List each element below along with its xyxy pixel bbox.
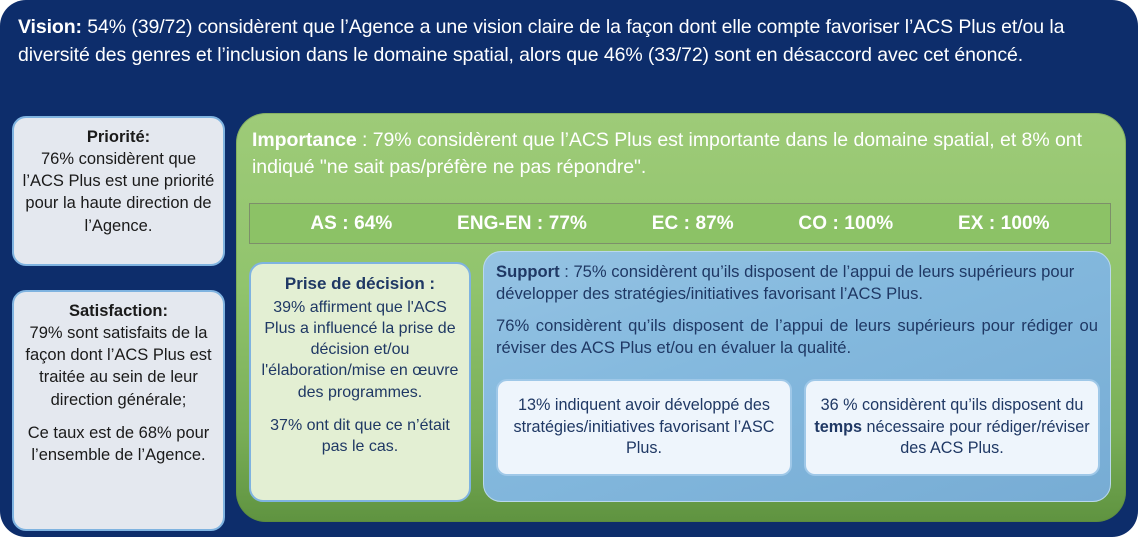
card-decision-body-1: 39% affirment que l'ACS Plus a influencé… bbox=[260, 297, 460, 403]
card-temps: 36 % considèrent qu’ils disposent du tem… bbox=[804, 379, 1100, 476]
importance-text: : 79% considèrent que l’ACS Plus est imp… bbox=[252, 129, 1082, 178]
support-paragraph-2: 76% considèrent qu’ils disposent de l’ap… bbox=[496, 315, 1098, 359]
vision-text: 54% (39/72) considèrent que l’Agence a u… bbox=[18, 16, 1064, 66]
card-prise-de-decision: Prise de décision : 39% affirment que l'… bbox=[249, 262, 471, 502]
card-decision-title: Prise de décision : bbox=[260, 273, 460, 295]
card-temps-bold: temps bbox=[814, 418, 862, 436]
stat-co: CO : 100% bbox=[798, 213, 893, 235]
vision-banner: Vision: 54% (39/72) considèrent que l’Ag… bbox=[18, 14, 1118, 69]
card-satisfaction-body-1: 79% sont satisfaits de la façon dont l’A… bbox=[22, 322, 215, 410]
support-sub-cards: 13% indiquent avoir développé des straté… bbox=[496, 379, 1100, 476]
card-satisfaction-title: Satisfaction: bbox=[22, 300, 215, 322]
card-satisfaction-body-2: Ce taux est de 68% pour l’ensemble de l’… bbox=[22, 422, 215, 466]
card-temps-text-after: nécessaire pour rédiger/réviser des ACS … bbox=[862, 418, 1090, 458]
support-para-1-text: : 75% considèrent qu’ils disposent de l’… bbox=[496, 262, 1074, 303]
infographic-root: Vision: 54% (39/72) considèrent que l’Ag… bbox=[0, 0, 1138, 537]
stat-eng-en: ENG-EN : 77% bbox=[457, 213, 587, 235]
card-priorite-title: Priorité: bbox=[22, 126, 215, 148]
support-label: Support bbox=[496, 262, 560, 281]
card-decision-body-2: 37% ont dit que ce n’était pas le cas. bbox=[260, 415, 460, 457]
importance-stats-bar: AS : 64% ENG-EN : 77% EC : 87% CO : 100%… bbox=[249, 203, 1111, 244]
card-priorite-body: 76% considèrent que l’ACS Plus est une p… bbox=[22, 148, 215, 236]
stat-as: AS : 64% bbox=[310, 213, 392, 235]
left-column: Priorité: 76% considèrent que l’ACS Plus… bbox=[12, 116, 225, 531]
importance-panel: Importance : 79% considèrent que l’ACS P… bbox=[236, 113, 1126, 522]
stat-ex: EX : 100% bbox=[958, 213, 1050, 235]
stat-ec: EC : 87% bbox=[652, 213, 734, 235]
card-strategies: 13% indiquent avoir développé des straté… bbox=[496, 379, 792, 476]
card-temps-text-before: 36 % considèrent qu’ils disposent du bbox=[821, 396, 1084, 414]
support-paragraph-1: Support : 75% considèrent qu’ils dispose… bbox=[496, 261, 1098, 305]
vision-label: Vision: bbox=[18, 16, 82, 38]
card-priorite: Priorité: 76% considèrent que l’ACS Plus… bbox=[12, 116, 225, 266]
importance-label: Importance bbox=[252, 129, 357, 151]
support-panel: Support : 75% considèrent qu’ils dispose… bbox=[483, 251, 1111, 502]
importance-heading: Importance : 79% considèrent que l’ACS P… bbox=[252, 127, 1108, 182]
card-satisfaction: Satisfaction: 79% sont satisfaits de la … bbox=[12, 290, 225, 531]
